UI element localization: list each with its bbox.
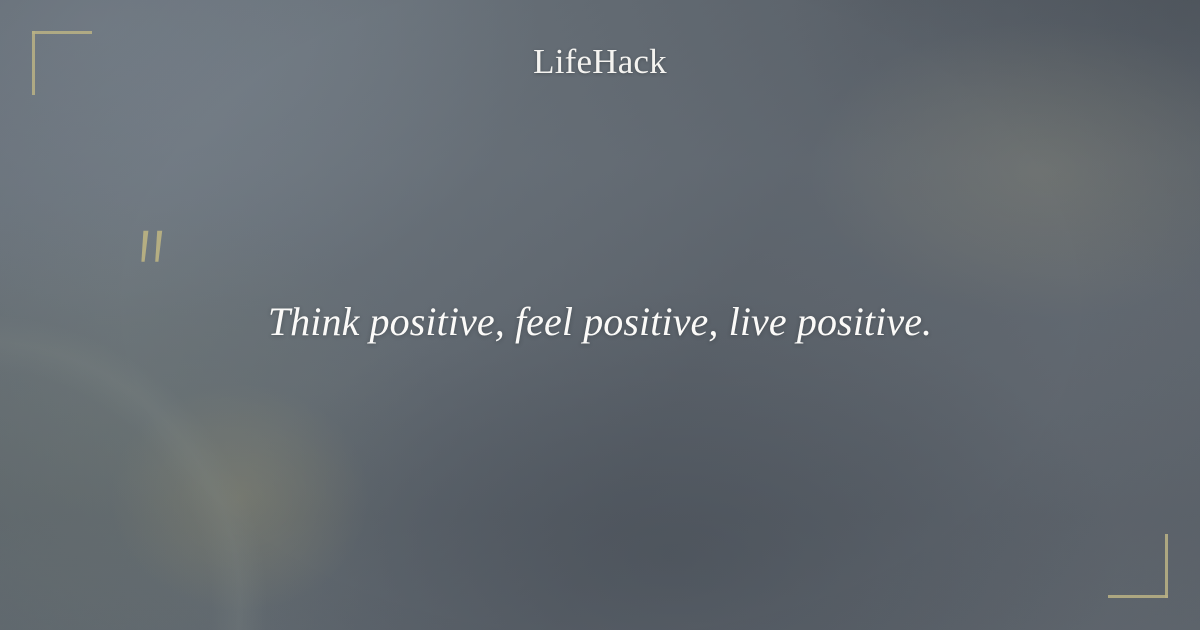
quotation-mark-icon [134, 230, 174, 268]
corner-bracket-horizontal-bar [32, 31, 92, 34]
corner-bracket-bottom-right-icon [1108, 534, 1168, 598]
brand-logo: LifeHack [0, 40, 1200, 84]
quote-card: LifeHack Think positive, feel positive, … [0, 0, 1200, 630]
quote-text: Think positive, feel positive, live posi… [0, 295, 1200, 349]
corner-bracket-horizontal-bar [1108, 595, 1168, 598]
corner-bracket-vertical-bar [1165, 534, 1168, 598]
